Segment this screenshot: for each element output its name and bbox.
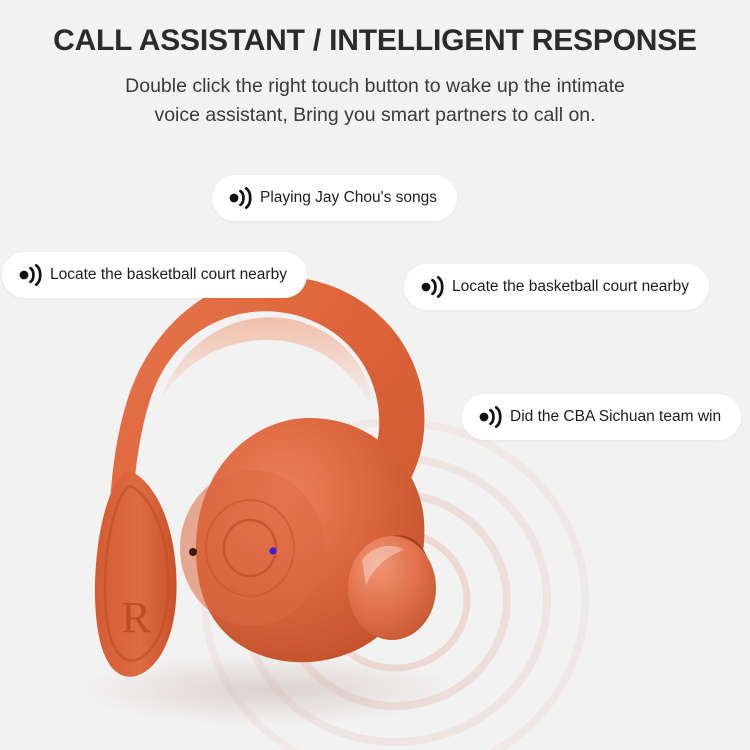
- voice-wave-icon: [18, 264, 44, 286]
- page-subtitle-line-1: Double click the right touch button to w…: [0, 72, 750, 101]
- touch-surface-outer[interactable]: [180, 470, 324, 626]
- voice-command-label: Locate the basketball court nearby: [452, 278, 689, 296]
- voice-command-label: Did the CBA Sichuan team win: [510, 408, 721, 426]
- voice-command-bubble-1: Playing Jay Chou's songs: [212, 175, 457, 221]
- voice-command-bubble-3: Locate the basketball court nearby: [404, 264, 709, 310]
- voice-wave-icon: [228, 187, 254, 209]
- voice-wave-icon: [420, 276, 446, 298]
- voice-command-bubble-4: Did the CBA Sichuan team win: [462, 394, 741, 440]
- page-subtitle: Double click the right touch button to w…: [0, 72, 750, 130]
- ear-fin: [95, 470, 177, 677]
- voice-command-label: Locate the basketball court nearby: [50, 266, 287, 284]
- channel-marking-R: R: [121, 593, 151, 642]
- voice-wave-icon: [478, 406, 504, 428]
- page-subtitle-line-2: voice assistant, Bring you smart partner…: [0, 101, 750, 130]
- led-indicator: [269, 547, 276, 554]
- voice-command-bubble-2: Locate the basketball court nearby: [2, 252, 307, 298]
- page-title: CALL ASSISTANT / INTELLIGENT RESPONSE: [0, 24, 750, 58]
- voice-command-label: Playing Jay Chou's songs: [260, 189, 437, 207]
- microphone-hole: [189, 548, 197, 556]
- product-feature-image: R CALL ASSISTANT / INTELLIGENT RESPONSE …: [0, 0, 750, 750]
